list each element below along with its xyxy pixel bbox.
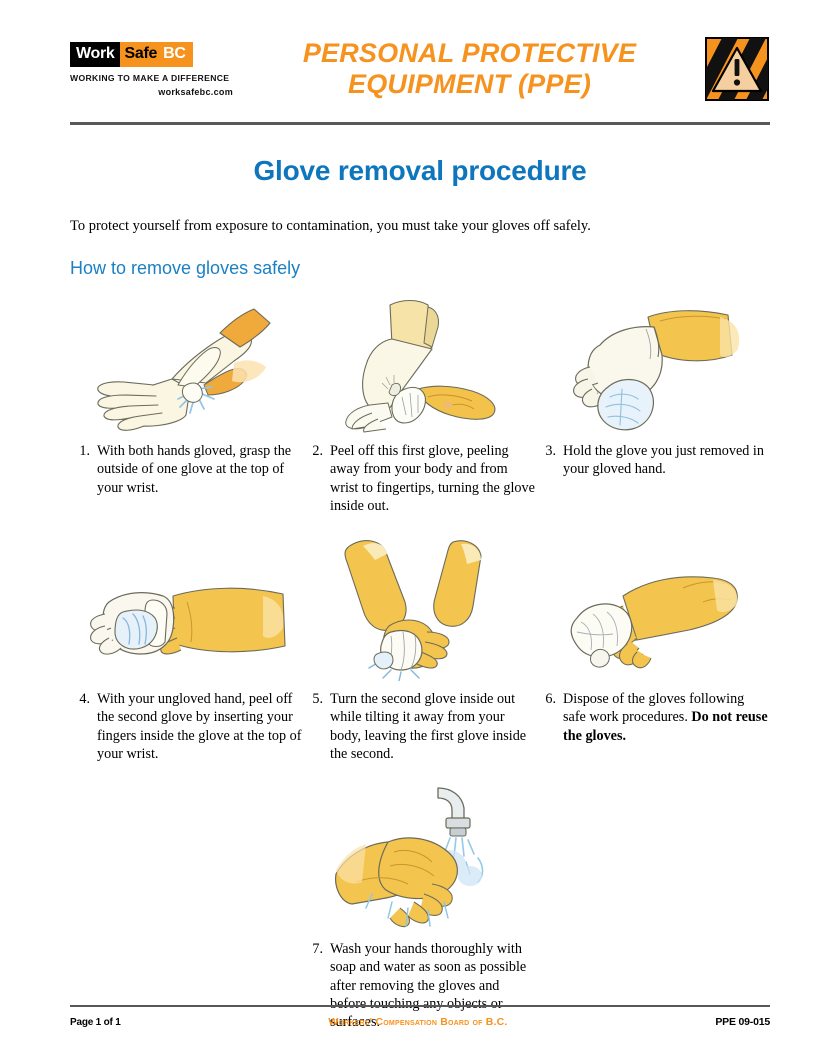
step-cell-6: 6. Dispose of the gloves following safe … <box>536 536 769 764</box>
step-item: 2. Peel off this first glove, peeling aw… <box>303 433 536 516</box>
step-number: 2. <box>303 442 330 516</box>
warning-triangle-icon <box>704 36 770 102</box>
page-number: Page 1 of 1 <box>70 1017 121 1028</box>
step-item: 6. Dispose of the gloves following safe … <box>536 681 769 745</box>
worksafebc-logo: Work Safe BC WORKING TO MAKE A DIFFERENC… <box>70 42 235 97</box>
step-text: Turn the second glove inside out while t… <box>330 690 536 764</box>
footer-organization: Workers' Compensation Board of B.C. <box>121 1016 716 1028</box>
step-text: With your ungloved hand, peel off the se… <box>97 690 303 764</box>
step-text-regular: Peel off this first glove, peeling away … <box>330 443 535 514</box>
step-item: 5. Turn the second glove inside out whil… <box>303 681 536 764</box>
header-title-line-1: PERSONAL PROTECTIVE <box>243 38 696 69</box>
steps-grid: 1. With both hands gloved, grasp the out… <box>70 288 770 1032</box>
document-code: PPE 09-015 <box>715 1016 770 1028</box>
step-text: Hold the glove you just removed in your … <box>563 442 769 479</box>
step-cell-3: 3. Hold the glove you just removed in yo… <box>536 288 769 516</box>
holding-removed-glove-illustration <box>536 288 769 433</box>
wash-hands-illustration <box>303 786 536 931</box>
page-title-banner: PERSONAL PROTECTIVE EQUIPMENT (PPE) <box>235 38 704 101</box>
header-title-line-2: EQUIPMENT (PPE) <box>243 69 696 100</box>
logo-word-safe: Safe <box>120 42 162 67</box>
section-subheading: How to remove gloves safely <box>70 258 770 279</box>
step-text-regular: Turn the second glove inside out while t… <box>330 691 526 762</box>
step-cell-4: 4. With your ungloved hand, peel off the… <box>70 536 303 764</box>
footer-divider <box>70 1005 770 1007</box>
peeling-glove-illustration <box>303 288 536 433</box>
step-number: 6. <box>536 690 563 745</box>
step-text-regular: Hold the glove you just removed in your … <box>563 443 764 477</box>
logo-url: worksafebc.com <box>70 87 235 97</box>
step-cell-1: 1. With both hands gloved, grasp the out… <box>70 288 303 516</box>
steps-row-2: 4. With your ungloved hand, peel off the… <box>70 536 770 764</box>
step-number: 1. <box>70 442 97 497</box>
header-divider <box>70 122 770 125</box>
step-number: 3. <box>536 442 563 479</box>
turn-glove-inside-out-illustration <box>303 536 536 681</box>
step-cell-5: 5. Turn the second glove inside out whil… <box>303 536 536 764</box>
step-text: With both hands gloved, grasp the outsid… <box>97 442 303 497</box>
step-number: 4. <box>70 690 97 764</box>
step-cell-7: 7. Wash your hands thoroughly with soap … <box>303 786 536 1032</box>
logo-word-work: Work <box>70 42 120 67</box>
step-item: 3. Hold the glove you just removed in yo… <box>536 433 769 479</box>
document-header: Work Safe BC WORKING TO MAKE A DIFFERENC… <box>70 28 770 110</box>
dispose-gloves-illustration <box>536 536 769 681</box>
step-text-regular: With your ungloved hand, peel off the se… <box>97 691 302 762</box>
step-item: 1. With both hands gloved, grasp the out… <box>70 433 303 497</box>
step-item: 4. With your ungloved hand, peel off the… <box>70 681 303 764</box>
gloved-hands-grasp-illustration <box>70 288 303 433</box>
steps-row-3: 7. Wash your hands thoroughly with soap … <box>70 786 770 1032</box>
logo-wordmark: Work Safe BC <box>70 42 233 67</box>
ungloved-hand-peel-illustration <box>70 536 303 681</box>
page-title: Glove removal procedure <box>70 155 770 187</box>
steps-row-1: 1. With both hands gloved, grasp the out… <box>70 288 770 516</box>
logo-tagline: WORKING TO MAKE A DIFFERENCE <box>70 73 235 83</box>
intro-paragraph: To protect yourself from exposure to con… <box>70 218 770 235</box>
document-page: Work Safe BC WORKING TO MAKE A DIFFERENC… <box>0 0 816 1056</box>
step-text-regular: With both hands gloved, grasp the outsid… <box>97 443 291 496</box>
step-number: 5. <box>303 690 330 764</box>
step-cell-2: 2. Peel off this first glove, peeling aw… <box>303 288 536 516</box>
step-text: Peel off this first glove, peeling away … <box>330 442 536 516</box>
step-text: Dispose of the gloves following safe wor… <box>563 690 769 745</box>
document-footer: Page 1 of 1 Workers' Compensation Board … <box>70 1016 770 1028</box>
logo-word-bc: BC <box>161 42 193 67</box>
